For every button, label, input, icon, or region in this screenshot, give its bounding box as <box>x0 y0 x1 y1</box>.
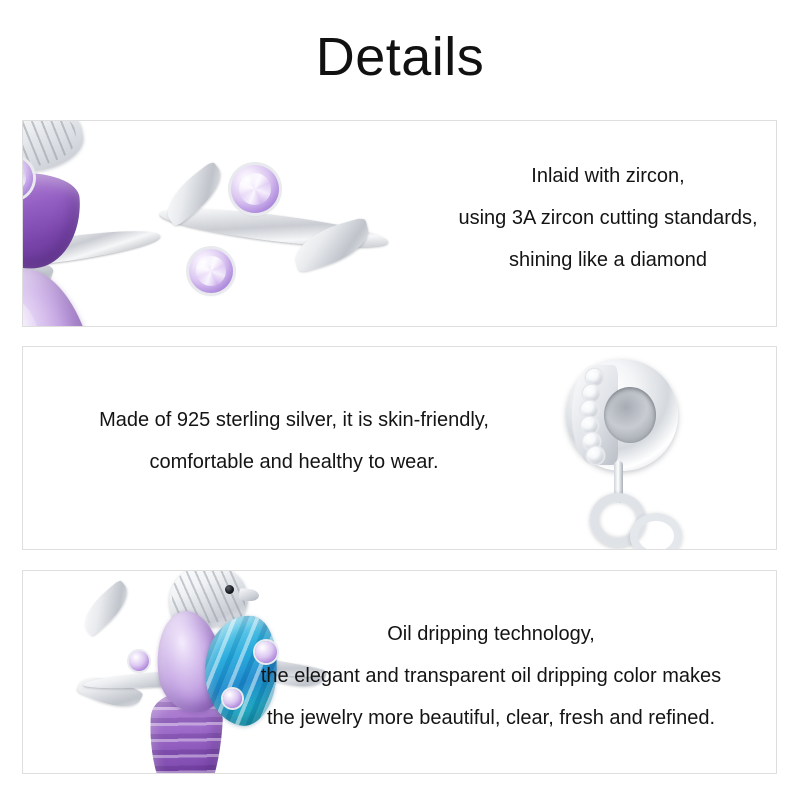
description-line: the jewelry more beautiful, clear, fresh… <box>211 697 771 739</box>
pave-stone <box>587 447 604 464</box>
description-line: Made of 925 sterling silver, it is skin-… <box>59 399 529 441</box>
pave-stone <box>581 417 598 434</box>
bird-eye <box>225 585 234 594</box>
description-line: comfortable and healthy to wear. <box>59 441 529 483</box>
purple-zircon-stone <box>129 651 149 671</box>
silver-leaf <box>75 579 136 636</box>
panel-3-description: Oil dripping technology, the elegant and… <box>211 613 771 739</box>
purple-zircon-stone <box>231 165 279 213</box>
charm-hanging-loop <box>630 513 682 550</box>
pave-stone <box>581 401 598 418</box>
purple-zircon-stone <box>189 249 233 293</box>
detail-panel-oil-dripping: Oil dripping technology, the elegant and… <box>22 570 777 774</box>
charm-threading-hole <box>604 387 656 443</box>
description-line: the elegant and transparent oil dripping… <box>211 655 771 697</box>
description-line: Inlaid with zircon, <box>453 155 763 197</box>
description-line: Oil dripping technology, <box>211 613 771 655</box>
description-line: shining like a diamond <box>453 239 763 281</box>
page-title: Details <box>0 26 800 88</box>
pave-stone <box>586 369 603 386</box>
pave-stone <box>583 385 600 402</box>
bird-charm-macro-image <box>22 120 383 327</box>
bird-beak <box>238 588 259 602</box>
product-details-page: Details Inlaid with zircon, using 3A zir… <box>0 0 800 800</box>
purple-pear-gem <box>22 263 105 327</box>
detail-panel-zircon: Inlaid with zircon, using 3A zircon cutt… <box>22 120 777 327</box>
panel-2-description: Made of 925 sterling silver, it is skin-… <box>59 399 529 483</box>
description-line: using 3A zircon cutting standards, <box>453 197 763 239</box>
silver-pave-dangle-charm-image <box>538 353 718 550</box>
panel-1-description: Inlaid with zircon, using 3A zircon cutt… <box>453 155 763 281</box>
detail-panel-sterling-silver: Made of 925 sterling silver, it is skin-… <box>22 346 777 550</box>
